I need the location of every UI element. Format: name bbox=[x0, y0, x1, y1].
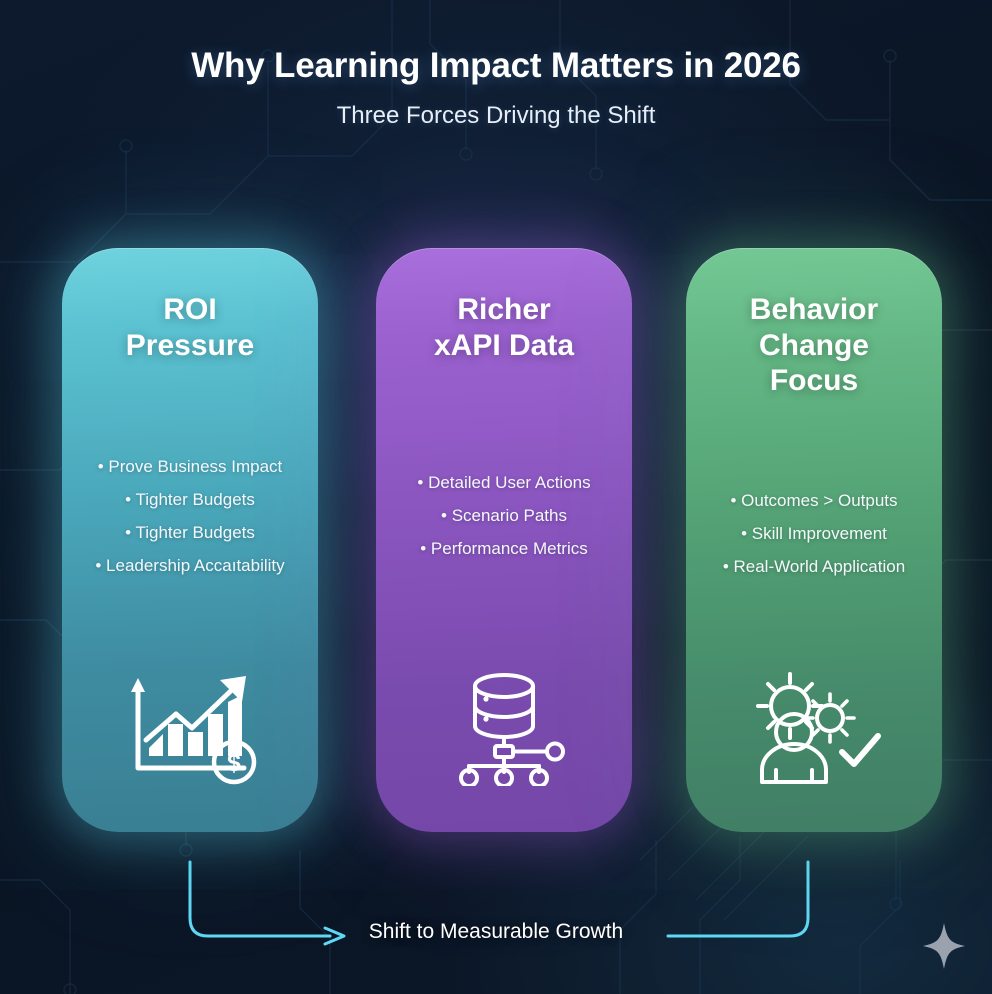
list-item: Outcomes > Outputs bbox=[702, 485, 926, 518]
connector-label-text: Shift to Measurable Growth bbox=[355, 920, 637, 943]
growth-chart-dollar-icon: $ bbox=[116, 670, 264, 786]
list-item: Performance Metrics bbox=[392, 533, 616, 566]
list-item: Skill Improvement bbox=[702, 518, 926, 551]
card-bullet-list: Prove Business Impact Tighter Budgets Ti… bbox=[76, 451, 304, 583]
list-item: Leadership Accaıtability bbox=[78, 550, 302, 583]
card-bullet-list: Outcomes > Outputs Skill Improvement Rea… bbox=[700, 485, 928, 584]
list-item: Tighter Budgets bbox=[78, 517, 302, 550]
page-subtitle: Three Forces Driving the Shift bbox=[0, 102, 992, 130]
card-roi-pressure[interactable]: ROI Pressure Prove Business Impact Tight… bbox=[62, 248, 318, 832]
infographic-canvas: Why Learning Impact Matters in 2026 Thre… bbox=[0, 0, 992, 994]
list-item: Prove Business Impact bbox=[78, 451, 302, 484]
svg-text:$: $ bbox=[227, 749, 241, 777]
card-behavior-change-focus[interactable]: Behavior Change Focus Outcomes > Outputs… bbox=[686, 248, 942, 832]
list-item: Detailed User Actions bbox=[392, 467, 616, 500]
card-bullet-list: Detailed User Actions Scenario Paths Per… bbox=[390, 467, 618, 566]
list-item: Scenario Paths bbox=[392, 500, 616, 533]
database-network-icon bbox=[441, 670, 567, 786]
connector-label: Shift to Measurable Growth bbox=[0, 920, 992, 944]
card-title: Behavior Change Focus bbox=[750, 292, 878, 399]
card-title: ROI Pressure bbox=[126, 292, 254, 363]
card-title: Richer xAPI Data bbox=[434, 292, 574, 363]
page-title: Why Learning Impact Matters in 2026 bbox=[0, 46, 992, 86]
sparkle-icon bbox=[922, 922, 966, 970]
list-item: Tighter Budgets bbox=[78, 484, 302, 517]
list-item: Real-World Application bbox=[702, 551, 926, 584]
person-gears-check-icon bbox=[744, 670, 884, 786]
header: Why Learning Impact Matters in 2026 Thre… bbox=[0, 46, 992, 130]
card-richer-xapi-data[interactable]: Richer xAPI Data Detailed User Actions S… bbox=[376, 248, 632, 832]
